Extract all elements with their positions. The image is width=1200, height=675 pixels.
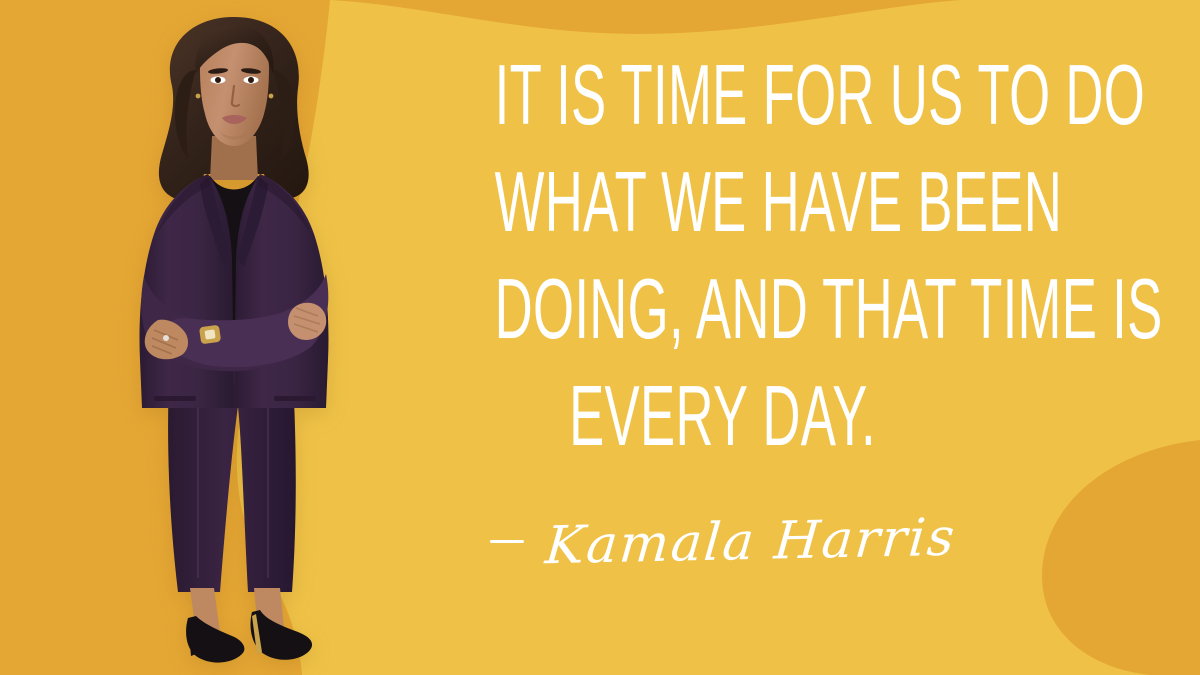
blazer-left-panel <box>140 174 234 408</box>
quote-graphic-canvas: IT IS TIME FOR US TO DO WHAT WE HAVE BEE… <box>0 0 1200 675</box>
quote-line-1: IT IS TIME FOR US TO DO <box>495 42 951 149</box>
blazer-right-panel <box>234 174 328 408</box>
watch-face <box>204 329 215 339</box>
pocket-right <box>274 396 316 401</box>
quote-line-3: DOING, AND THAT TIME IS <box>495 256 951 363</box>
attribution-name: Kamala Harris <box>543 508 959 577</box>
attribution-dash-icon <box>490 540 524 543</box>
earring-left <box>196 94 201 99</box>
quote-line-2: WHAT WE HAVE BEEN <box>495 149 951 256</box>
quote-line-4: EVERY DAY. <box>495 363 951 470</box>
quote-attribution: Kamala Harris <box>355 512 1090 572</box>
quote-text-block: IT IS TIME FOR US TO DO WHAT WE HAVE BEE… <box>355 42 1090 470</box>
earring-right <box>269 94 274 99</box>
portrait-container <box>92 8 372 673</box>
pupil-right <box>248 77 254 83</box>
portrait-kamala-harris <box>92 8 372 673</box>
pupil-left <box>215 77 221 83</box>
pocket-left <box>154 396 196 401</box>
ring <box>163 335 169 341</box>
